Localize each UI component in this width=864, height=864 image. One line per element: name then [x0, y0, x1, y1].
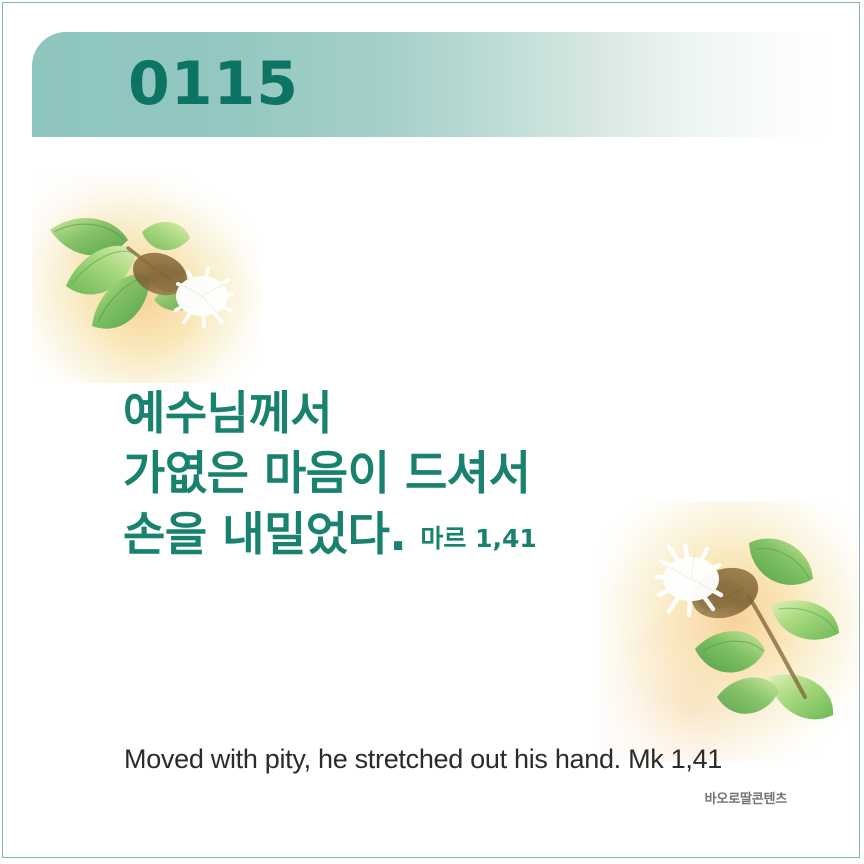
page-number: 0115	[128, 53, 299, 113]
flower-illustration-top-left	[32, 168, 262, 383]
verse-card: 0115	[2, 2, 860, 858]
clover-flower-icon	[32, 168, 262, 383]
english-verse: Moved with pity, he stretched out his ha…	[124, 744, 722, 775]
korean-verse: 예수님께서 가엾은 마음이 드셔서 손을 내밀었다.마르 1,41	[123, 383, 823, 564]
korean-verse-line-1: 예수님께서	[123, 383, 823, 443]
korean-verse-line-3-text: 손을 내밀었다.	[123, 507, 406, 561]
header-band: 0115	[32, 32, 860, 137]
korean-verse-reference: 마르 1,41	[420, 524, 536, 553]
attribution-text: 바오로딸콘텐츠	[705, 788, 787, 807]
korean-verse-line-3: 손을 내밀었다.마르 1,41	[123, 504, 823, 564]
korean-verse-line-2: 가엾은 마음이 드셔서	[123, 443, 823, 503]
